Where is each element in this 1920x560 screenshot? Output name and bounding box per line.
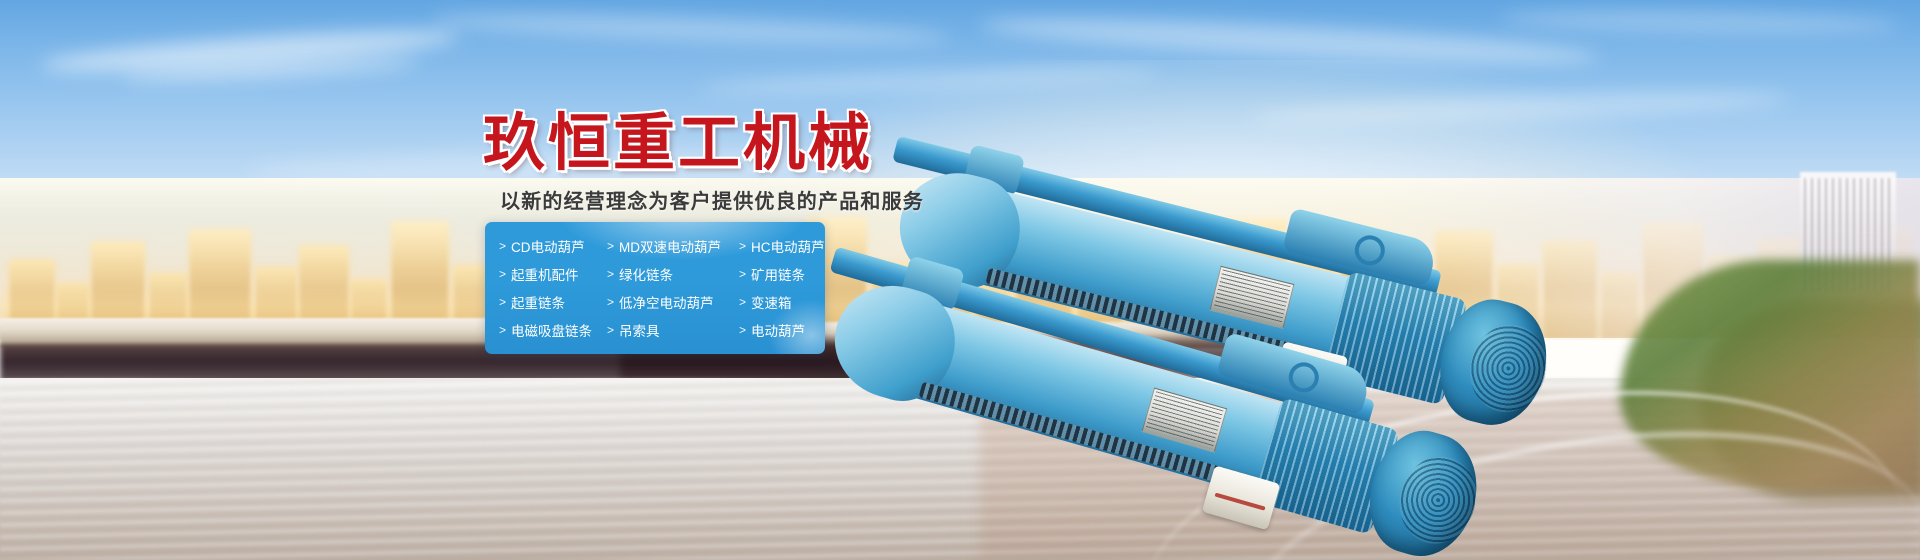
product-link-low-headroom-hoist[interactable]: > 低净空电动葫芦 [607,292,739,312]
product-link-magnetic-chain[interactable]: > 电磁吸盘链条 [499,320,607,340]
product-link-label: 变速箱 [751,292,792,312]
product-link-crane-parts[interactable]: > 起重机配件 [499,264,607,284]
product-link-label: 矿用链条 [751,264,805,284]
product-link-lifting-chain[interactable]: > 起重链条 [499,292,607,312]
product-link-label: 吊索具 [619,320,660,340]
product-link-label: MD双速电动葫芦 [619,236,721,256]
product-link-label: HC电动葫芦 [751,236,825,256]
promo-banner: 玖恒重工机械 以新的经营理念为客户提供优良的产品和服务 > CD电动葫芦 > M… [0,0,1920,560]
chevron-right-icon: > [499,267,506,281]
product-link-label: CD电动葫芦 [511,236,585,256]
product-link-greening-chain[interactable]: > 绿化链条 [607,264,739,284]
product-link-cd-hoist[interactable]: > CD电动葫芦 [499,236,607,256]
product-link-electric-hoist[interactable]: > 电动葫芦 [739,320,825,340]
chevron-right-icon: > [607,239,614,253]
page-title: 玖恒重工机械 [483,113,873,175]
chevron-right-icon: > [739,239,746,253]
chevron-right-icon: > [739,295,746,309]
product-link-label: 电动葫芦 [751,320,805,340]
product-link-label: 绿化链条 [619,264,673,284]
chevron-right-icon: > [607,295,614,309]
product-links-grid: > CD电动葫芦 > MD双速电动葫芦 > HC电动葫芦 > 起重机配件 > 绿… [499,232,817,346]
product-link-md-dual-speed-hoist[interactable]: > MD双速电动葫芦 [607,236,739,256]
product-link-mining-chain[interactable]: > 矿用链条 [739,264,825,284]
product-links-panel: > CD电动葫芦 > MD双速电动葫芦 > HC电动葫芦 > 起重机配件 > 绿… [485,222,825,354]
chevron-right-icon: > [739,267,746,281]
product-link-label: 电磁吸盘链条 [511,320,592,340]
chevron-right-icon: > [499,295,506,309]
chevron-right-icon: > [607,323,614,337]
product-link-label: 低净空电动葫芦 [619,292,714,312]
product-link-slings[interactable]: > 吊索具 [607,320,739,340]
product-link-hc-hoist[interactable]: > HC电动葫芦 [739,236,825,256]
chevron-right-icon: > [739,323,746,337]
product-link-label: 起重链条 [511,292,565,312]
product-link-gearbox[interactable]: > 变速箱 [739,292,825,312]
chevron-right-icon: > [607,267,614,281]
chevron-right-icon: > [499,323,506,337]
chevron-right-icon: > [499,239,506,253]
page-subtitle: 以新的经营理念为客户提供优良的产品和服务 [500,185,924,214]
product-link-label: 起重机配件 [511,264,579,284]
